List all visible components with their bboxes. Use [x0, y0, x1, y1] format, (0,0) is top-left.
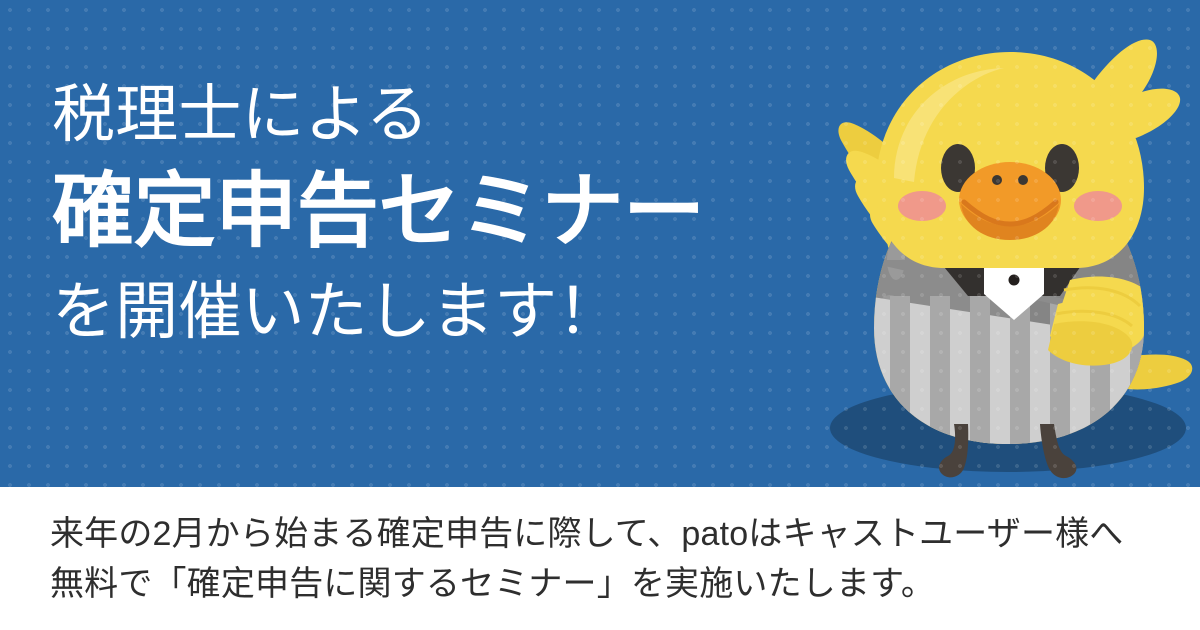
headline: 税理士による 確定申告セミナー を開催いたします！ [52, 74, 705, 354]
headline-line-2: 確定申告セミナー [52, 160, 705, 264]
caption-line-1: 来年の2月から始まる確定申告に際して、patoはキャストユーザー様へ [50, 509, 1160, 559]
caption-line-2: 無料で「確定申告に関するセミナー」を実施いたします。 [50, 559, 1160, 609]
left-cheek [898, 191, 946, 221]
seminar-banner: 税理士による 確定申告セミナー を開催いたします！ 来年の2月から始まる確定申告… [0, 0, 1200, 630]
headline-line-1: 税理士による [52, 74, 705, 156]
tuxedo-chick-mascot [818, 28, 1200, 480]
hero-panel: 税理士による 確定申告セミナー を開催いたします！ [0, 0, 1200, 487]
right-cheek [1074, 191, 1122, 221]
shirt-button-bottom [1009, 275, 1020, 286]
mascot-head [876, 39, 1180, 268]
headline-line-3: を開催いたします！ [52, 270, 705, 354]
caption-text: 来年の2月から始まる確定申告に際して、patoはキャストユーザー様へ 無料で「確… [50, 509, 1160, 609]
caption-panel: 来年の2月から始まる確定申告に際して、patoはキャストユーザー様へ 無料で「確… [0, 487, 1200, 630]
